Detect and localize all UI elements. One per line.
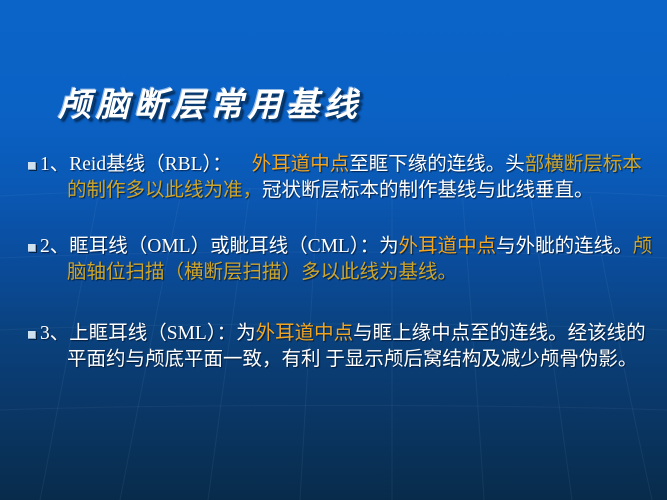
segment: 1、Reid基线（RBL）： <box>40 154 232 175</box>
segment: 与外眦的连线。 <box>496 236 633 257</box>
square-bullet-icon <box>28 162 36 170</box>
segment: 3、上眶耳线（SML）：为 <box>40 323 256 344</box>
segment: 外耳道中点 <box>399 236 497 257</box>
list-item[interactable]: 1、Reid基线（RBL）：外耳道中点至眶下缘的连线。头部横断层标本的制作多以此… <box>0 152 667 203</box>
segment: 2、眶耳线（OML）或眦耳线（CML）：为 <box>40 236 399 257</box>
list-item-text: 1、Reid基线（RBL）：外耳道中点至眶下缘的连线。头部横断层标本的制作多以此… <box>67 152 661 203</box>
square-bullet-icon <box>28 331 36 339</box>
list-item-text: 2、眶耳线（OML）或眦耳线（CML）：为外耳道中点与外眦的连线。颅脑轴位扫描（… <box>67 234 661 285</box>
title-block: 颅脑断层常用基线 <box>0 88 667 123</box>
segment: 外耳道中点 <box>256 323 354 344</box>
segment: 外耳道中点 <box>252 154 350 175</box>
list-item-text: 3、上眶耳线（SML）：为外耳道中点与眶上缘中点至的连线。经该线的平面约与颅底平… <box>67 321 661 372</box>
square-bullet-icon <box>28 244 36 252</box>
segment: 至眶下缘的连线。头 <box>349 154 525 175</box>
list-item[interactable]: 2、眶耳线（OML）或眦耳线（CML）：为外耳道中点与外眦的连线。颅脑轴位扫描（… <box>0 234 667 285</box>
segment: 冠状断层标本的制作基线与此线垂直。 <box>262 180 594 201</box>
page-title: 颅脑断层常用基线 <box>58 88 362 123</box>
bullet-list: 1、Reid基线（RBL）：外耳道中点至眶下缘的连线。头部横断层标本的制作多以此… <box>0 152 667 395</box>
presentation-slide: 颅脑断层常用基线 1、Reid基线（RBL）：外耳道中点至眶下缘的连线。头部横断… <box>0 0 667 500</box>
list-item[interactable]: 3、上眶耳线（SML）：为外耳道中点与眶上缘中点至的连线。经该线的平面约与颅底平… <box>0 321 667 372</box>
